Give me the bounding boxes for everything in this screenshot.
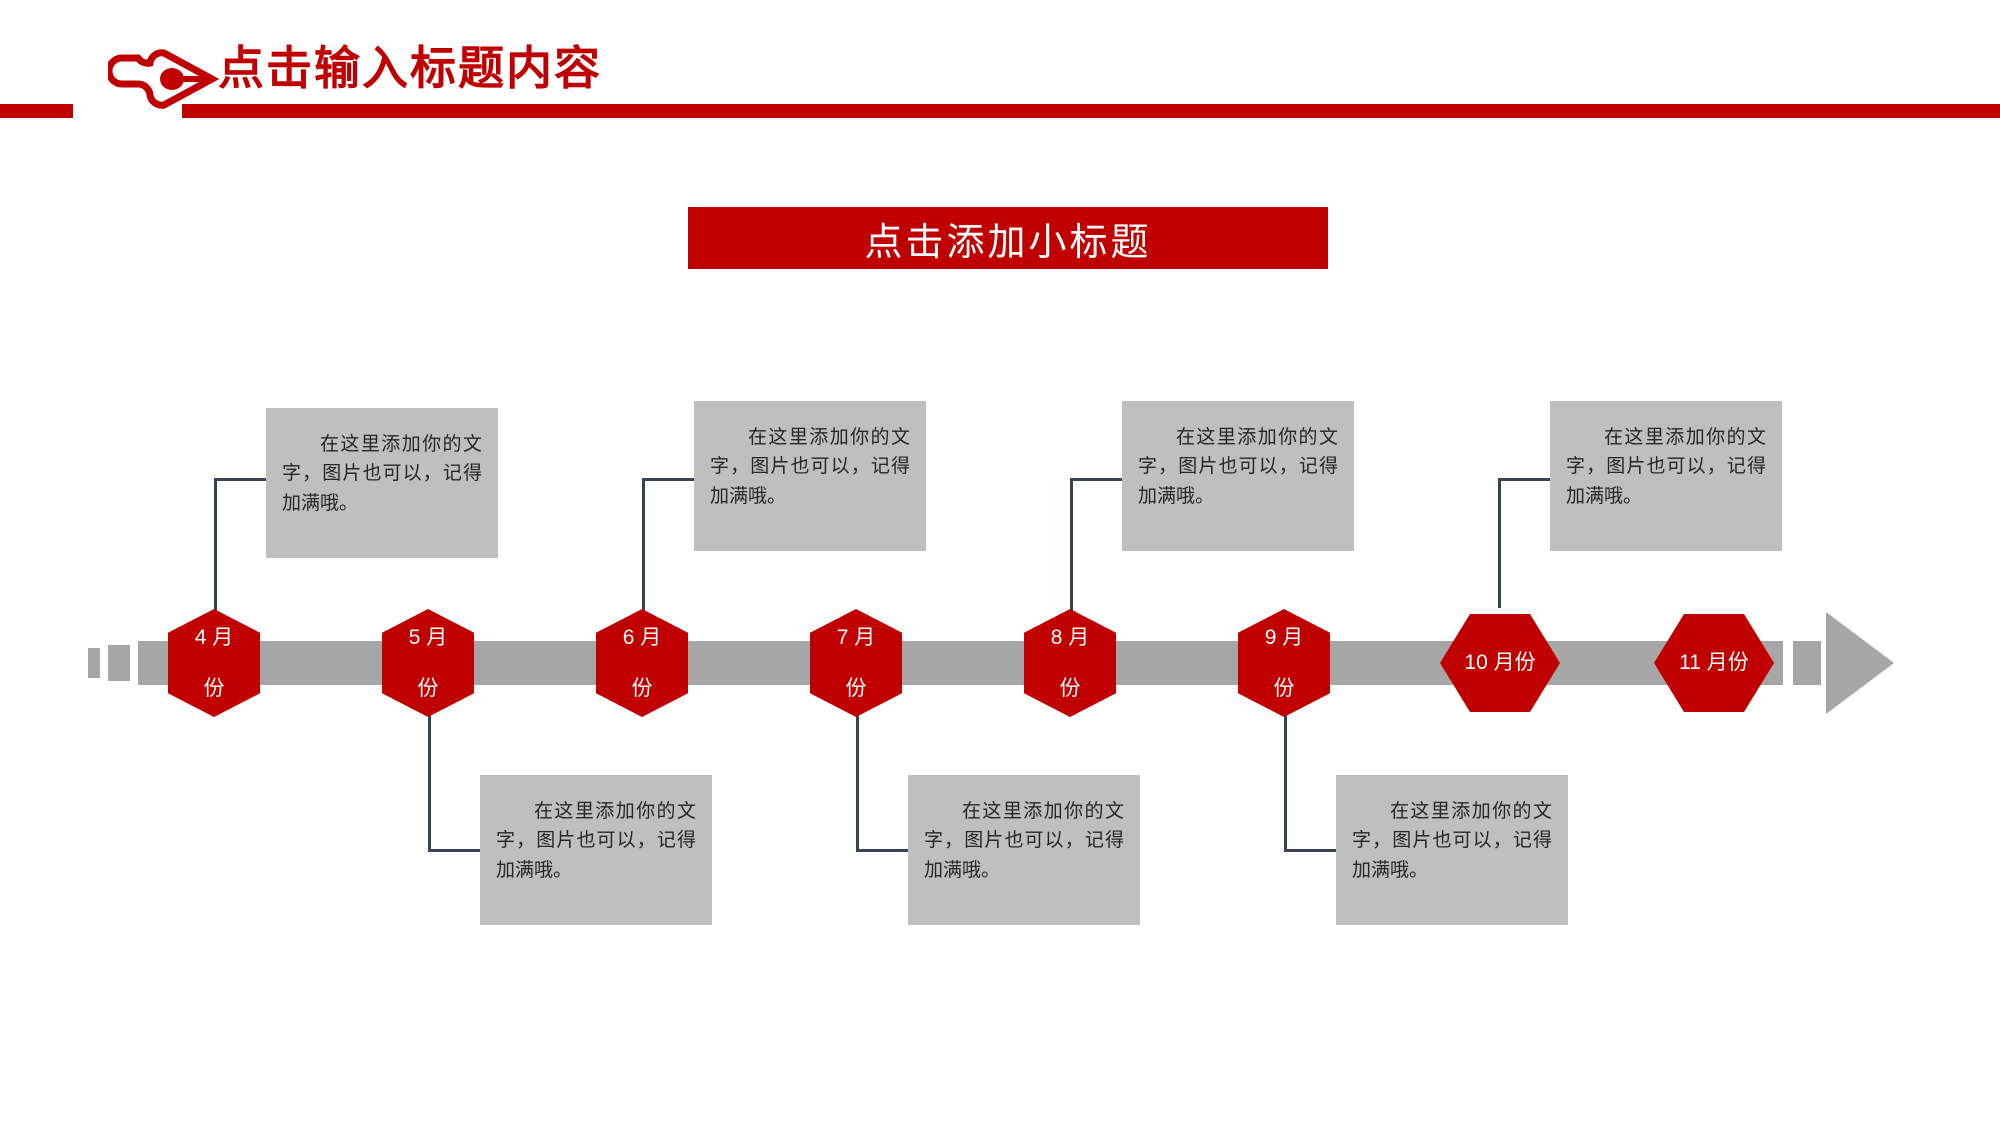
header-rule-left bbox=[0, 104, 73, 118]
timeline-node-5-label: 8 月 份 bbox=[1043, 625, 1098, 702]
connector-horizontal-bottom-3 bbox=[1284, 849, 1336, 852]
timeline-node-4-line2: 份 bbox=[833, 676, 880, 702]
connector-horizontal-bottom-1 bbox=[428, 849, 480, 852]
timeline-node-6-label: 9 月 份 bbox=[1257, 625, 1312, 702]
connector-vertical-top-1 bbox=[214, 478, 217, 613]
connector-vertical-top-3 bbox=[1070, 478, 1073, 613]
subtitle-banner[interactable]: 点击添加小标题 bbox=[688, 207, 1328, 269]
timeline-node-3-line1: 6 月 bbox=[619, 625, 666, 651]
connector-horizontal-bottom-2 bbox=[856, 849, 908, 852]
timeline-textbox-bottom-3[interactable]: 在这里添加你的文字，图片也可以，记得加满哦。 bbox=[1336, 775, 1568, 925]
connector-horizontal-top-3 bbox=[1070, 478, 1122, 481]
slide-canvas: 点击输入标题内容 点击添加小标题 4 月 份 5 月 份 bbox=[0, 0, 2000, 1125]
timeline-textbox-bottom-1[interactable]: 在这里添加你的文字，图片也可以，记得加满哦。 bbox=[480, 775, 712, 925]
pen-nib-decor-icon bbox=[108, 48, 220, 110]
timeline-node-1[interactable]: 4 月 份 bbox=[168, 609, 260, 717]
timeline-node-3[interactable]: 6 月 份 bbox=[596, 609, 688, 717]
timeline-node-2-line2: 份 bbox=[405, 676, 452, 702]
timeline-node-5-line2: 份 bbox=[1047, 676, 1094, 702]
connector-vertical-bottom-2 bbox=[856, 712, 859, 852]
timeline-node-6[interactable]: 9 月 份 bbox=[1238, 609, 1330, 717]
timeline-textbox-top-2[interactable]: 在这里添加你的文字，图片也可以，记得加满哦。 bbox=[694, 401, 926, 551]
timeline-dash-1 bbox=[88, 648, 100, 678]
timeline-node-4[interactable]: 7 月 份 bbox=[810, 609, 902, 717]
timeline-dash-2 bbox=[108, 645, 130, 681]
timeline-textbox-top-4[interactable]: 在这里添加你的文字，图片也可以，记得加满哦。 bbox=[1550, 401, 1782, 551]
timeline-dash-5 bbox=[1793, 641, 1821, 685]
connector-horizontal-top-1 bbox=[214, 478, 266, 481]
timeline-textbox-bottom-2-text: 在这里添加你的文字，图片也可以，记得加满哦。 bbox=[924, 797, 1124, 885]
timeline-textbox-top-1-text: 在这里添加你的文字，图片也可以，记得加满哦。 bbox=[282, 430, 482, 518]
timeline-node-5-line1: 8 月 bbox=[1047, 625, 1094, 651]
timeline-textbox-top-3[interactable]: 在这里添加你的文字，图片也可以，记得加满哦。 bbox=[1122, 401, 1354, 551]
timeline-node-8[interactable]: 11 月份 bbox=[1654, 614, 1774, 712]
timeline-textbox-top-3-text: 在这里添加你的文字，图片也可以，记得加满哦。 bbox=[1138, 423, 1338, 511]
timeline-textbox-top-1[interactable]: 在这里添加你的文字，图片也可以，记得加满哦。 bbox=[266, 408, 498, 558]
timeline-textbox-bottom-1-text: 在这里添加你的文字，图片也可以，记得加满哦。 bbox=[496, 797, 696, 885]
timeline-textbox-top-2-text: 在这里添加你的文字，图片也可以，记得加满哦。 bbox=[710, 423, 910, 511]
timeline-node-2-line1: 5 月 bbox=[405, 625, 452, 651]
connector-vertical-top-2 bbox=[642, 478, 645, 613]
connector-horizontal-top-2 bbox=[642, 478, 694, 481]
timeline-node-7[interactable]: 10 月份 bbox=[1440, 614, 1560, 712]
header-rule-main bbox=[182, 104, 2000, 118]
timeline-node-4-line1: 7 月 bbox=[833, 625, 880, 651]
timeline-node-7-label: 10 月份 bbox=[1460, 650, 1539, 676]
page-title: 点击输入标题内容 bbox=[218, 32, 602, 98]
connector-vertical-top-4 bbox=[1498, 478, 1501, 608]
timeline-node-5[interactable]: 8 月 份 bbox=[1024, 609, 1116, 717]
timeline-node-1-line2: 份 bbox=[191, 676, 238, 702]
timeline-node-8-label: 11 月份 bbox=[1675, 650, 1753, 676]
connector-horizontal-top-4 bbox=[1498, 478, 1550, 481]
timeline-textbox-top-4-text: 在这里添加你的文字，图片也可以，记得加满哦。 bbox=[1566, 423, 1766, 511]
timeline-node-6-line1: 9 月 bbox=[1261, 625, 1308, 651]
timeline-textbox-bottom-2[interactable]: 在这里添加你的文字，图片也可以，记得加满哦。 bbox=[908, 775, 1140, 925]
timeline-node-4-label: 7 月 份 bbox=[829, 625, 884, 702]
timeline-node-1-line1: 4 月 bbox=[191, 625, 238, 651]
timeline-node-2-label: 5 月 份 bbox=[401, 625, 456, 702]
subtitle-banner-label: 点击添加小标题 bbox=[864, 211, 1151, 266]
timeline-arrow-icon bbox=[1826, 612, 1894, 714]
timeline-node-1-label: 4 月 份 bbox=[187, 625, 242, 702]
timeline-textbox-bottom-3-text: 在这里添加你的文字，图片也可以，记得加满哦。 bbox=[1352, 797, 1552, 885]
connector-vertical-bottom-1 bbox=[428, 712, 431, 852]
timeline-node-3-line2: 份 bbox=[619, 676, 666, 702]
timeline-node-6-line2: 份 bbox=[1261, 676, 1308, 702]
connector-vertical-bottom-3 bbox=[1284, 712, 1287, 852]
timeline-node-2[interactable]: 5 月 份 bbox=[382, 609, 474, 717]
timeline-node-3-label: 6 月 份 bbox=[615, 625, 670, 702]
